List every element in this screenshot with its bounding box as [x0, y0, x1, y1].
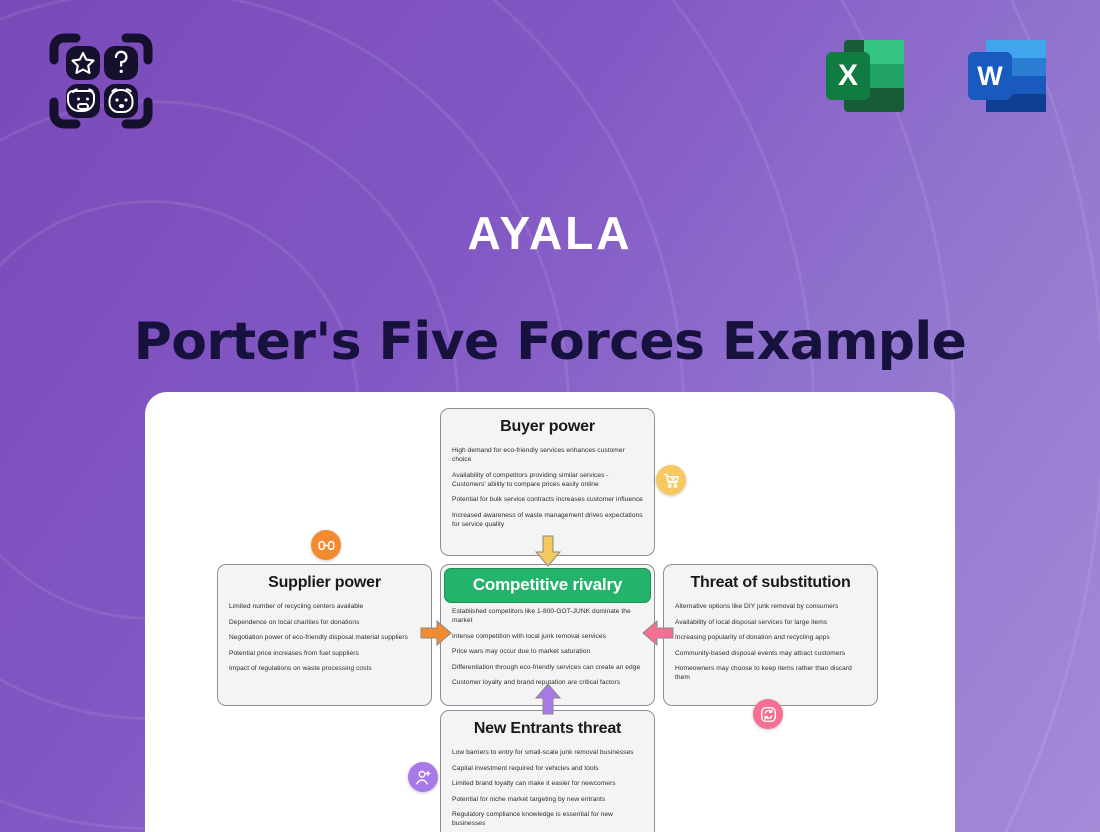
list-item: Potential price increases from fuel supp…	[229, 649, 421, 658]
arrow-entrants-to-rivalry	[534, 682, 562, 715]
force-box-buyer[interactable]: Buyer power High demand for eco-friendly…	[440, 408, 655, 556]
force-box-substitution[interactable]: Threat of substitution Alternative optio…	[663, 564, 878, 706]
word-icon[interactable]: W	[960, 28, 1056, 124]
list-item: Community-based disposal events may attr…	[675, 649, 867, 658]
list-item: Increasing popularity of donation and re…	[675, 633, 867, 642]
force-box-supplier[interactable]: Supplier power Limited number of recycli…	[217, 564, 432, 706]
svg-text:W: W	[977, 61, 1003, 91]
list-item: Potential for bulk service contracts inc…	[452, 495, 644, 504]
force-title: Supplier power	[218, 565, 431, 600]
list-item: Price wars may occur due to market satur…	[452, 647, 644, 656]
list-item: Limited number of recycling centers avai…	[229, 602, 421, 611]
link-icon[interactable]	[311, 530, 341, 560]
force-item-list: Alternative options like DIY junk remova…	[664, 600, 877, 697]
list-item: Impact of regulations on waste processin…	[229, 664, 421, 673]
excel-icon[interactable]: X	[818, 28, 914, 124]
force-item-list: Low barriers to entry for small-scale ju…	[441, 746, 654, 832]
arrow-supplier-to-rivalry	[420, 619, 453, 647]
force-item-list: Limited number of recycling centers avai…	[218, 600, 431, 688]
force-title: Threat of substitution	[664, 565, 877, 600]
list-item: Regulatory compliance knowledge is essen…	[452, 810, 644, 828]
force-title: Competitive rivalry	[444, 568, 651, 603]
list-item: Differentiation through eco-friendly ser…	[452, 663, 644, 672]
arrow-substitution-to-rivalry	[641, 619, 674, 647]
force-item-list: High demand for eco-friendly services en…	[441, 444, 654, 544]
brand-logo[interactable]	[48, 28, 154, 134]
list-item: Capital investment required for vehicles…	[452, 764, 644, 773]
list-item: Established competitors like 1-800-GOT-J…	[452, 607, 644, 625]
list-item: Availability of competitors providing si…	[452, 471, 644, 489]
list-item: Intense competition with local junk remo…	[452, 632, 644, 641]
list-item: Dependence on local charities for donati…	[229, 618, 421, 627]
list-item: Limited brand loyalty can make it easier…	[452, 779, 644, 788]
svg-text:X: X	[838, 59, 858, 92]
cart-icon[interactable]	[656, 465, 686, 495]
list-item: Potential for niche market targeting by …	[452, 795, 644, 804]
arrow-buyer-to-rivalry	[534, 535, 562, 568]
force-title: New Entrants threat	[441, 711, 654, 746]
list-item: Availability of local disposal services …	[675, 618, 867, 627]
page-title: Porter's Five Forces Example	[0, 312, 1100, 372]
diagram-card: Buyer power High demand for eco-friendly…	[145, 392, 955, 832]
list-item: High demand for eco-friendly services en…	[452, 446, 644, 464]
office-app-icons: X W	[818, 28, 1056, 124]
brand-kicker: AYALA	[0, 206, 1100, 260]
list-item: Low barriers to entry for small-scale ju…	[452, 748, 644, 757]
list-item: Negotiation power of eco-friendly dispos…	[229, 633, 421, 642]
add-user-icon[interactable]	[408, 762, 438, 792]
force-title: Buyer power	[441, 409, 654, 444]
force-box-entrants[interactable]: New Entrants threat Low barriers to entr…	[440, 710, 655, 832]
list-item: Increased awareness of waste management …	[452, 511, 644, 529]
refresh-icon[interactable]	[753, 699, 783, 729]
list-item: Homeowners may choose to keep items rath…	[675, 664, 867, 682]
list-item: Alternative options like DIY junk remova…	[675, 602, 867, 611]
